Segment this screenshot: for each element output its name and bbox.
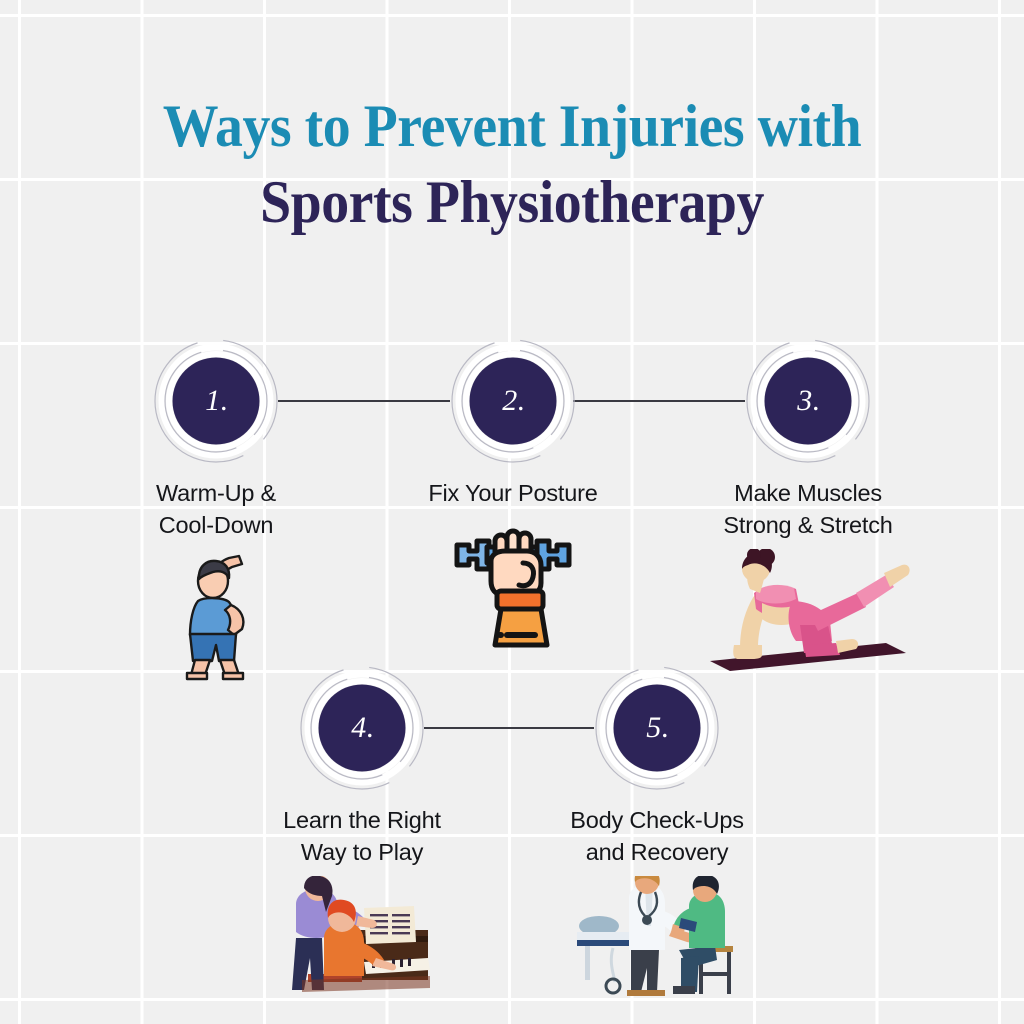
step-number-5: 5.: [593, 664, 721, 792]
step-illustration-4: [242, 876, 482, 998]
fist-holding-wrench-icon: [449, 517, 577, 649]
page-title: Ways to Prevent Injuries with Sports Phy…: [0, 88, 1024, 240]
step-illustration-2: [393, 517, 633, 649]
step-illustration-1: [96, 549, 336, 681]
step-label-4: Learn the Right Way to Play: [242, 804, 482, 868]
step-item-1[interactable]: 1. Warm-Up & Cool-Down: [96, 337, 336, 681]
step-item-4[interactable]: 4. Learn the Right Way to Play: [242, 664, 482, 998]
step-badge-4[interactable]: 4.: [298, 664, 426, 792]
step-label-2: Fix Your Posture: [393, 477, 633, 509]
woman-yoga-bird-dog-icon: [700, 549, 916, 673]
step-item-5[interactable]: 5. Body Check-Ups and Recovery: [537, 664, 777, 1000]
step-item-2[interactable]: 2. Fix Your Posture: [393, 337, 633, 649]
infographic-poster: Ways to Prevent Injuries with Sports Phy…: [0, 0, 1024, 1024]
title-line-secondary: Sports Physiotherapy: [36, 164, 988, 240]
step-badge-3[interactable]: 3.: [744, 337, 872, 465]
doctor-examining-patient-icon: [569, 876, 745, 1000]
step-label-5: Body Check-Ups and Recovery: [537, 804, 777, 868]
coach-teaching-student-icon: [278, 876, 446, 998]
step-item-3[interactable]: 3. Make Muscles Strong & Stretch: [688, 337, 928, 673]
step-badge-1[interactable]: 1.: [152, 337, 280, 465]
step-number-1: 1.: [152, 337, 280, 465]
title-line-primary: Ways to Prevent Injuries with: [36, 88, 988, 164]
step-label-1: Warm-Up & Cool-Down: [96, 477, 336, 541]
step-illustration-5: [537, 876, 777, 1000]
person-side-stretch-icon: [163, 549, 269, 681]
step-badge-5[interactable]: 5.: [593, 664, 721, 792]
step-number-4: 4.: [298, 664, 426, 792]
step-badge-2[interactable]: 2.: [449, 337, 577, 465]
step-label-3: Make Muscles Strong & Stretch: [688, 477, 928, 541]
step-number-2: 2.: [449, 337, 577, 465]
step-number-3: 3.: [744, 337, 872, 465]
step-illustration-3: [688, 549, 928, 673]
